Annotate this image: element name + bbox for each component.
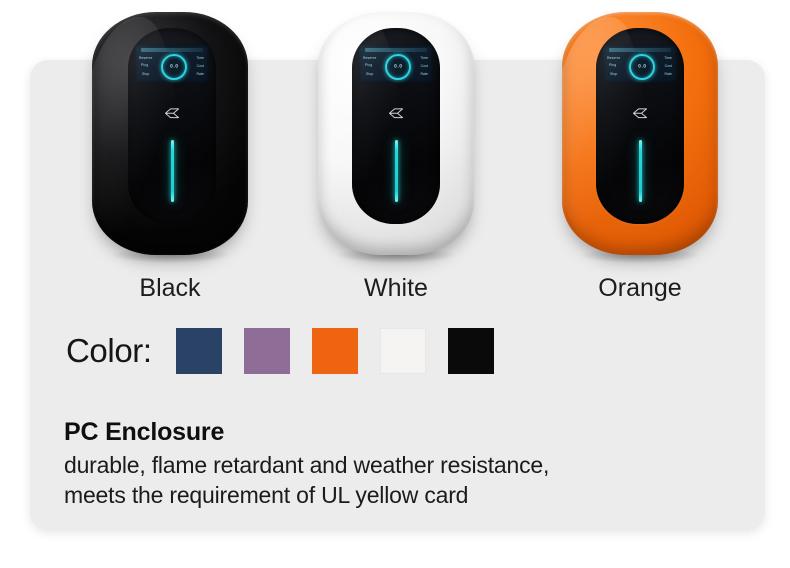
lcd-label-right-2: Cost bbox=[665, 64, 672, 68]
device-label-white: White bbox=[318, 274, 474, 303]
lcd-label-left-3: Stop bbox=[142, 72, 149, 76]
color-swatch-navy-blue[interactable] bbox=[176, 328, 222, 374]
lcd-label-right-1: Time bbox=[664, 56, 672, 60]
color-options-row: Color: bbox=[66, 328, 494, 374]
description-block: PC Enclosure durable, flame retardant an… bbox=[64, 418, 766, 511]
lcd-label-left-3: Stop bbox=[610, 72, 617, 76]
product-device-orange[interactable]: Reserve Plug Stop Time Cost Rate 0.0 Ora… bbox=[562, 12, 718, 255]
device-gallery: Reserve Plug Stop Time Cost Rate 0.0 Bla… bbox=[0, 0, 790, 300]
color-label: Color: bbox=[66, 332, 152, 370]
charging-gauge-ring: 0.0 bbox=[629, 54, 655, 80]
device-face-panel: Reserve Plug Stop Time Cost Rate 0.0 bbox=[128, 28, 216, 224]
lcd-label-right-1: Time bbox=[196, 56, 204, 60]
lcd-label-right-2: Cost bbox=[197, 64, 204, 68]
lcd-label-left-1: Reserve bbox=[607, 56, 620, 60]
lcd-label-left-2: Plug bbox=[365, 63, 372, 67]
device-label-black: Black bbox=[92, 274, 248, 303]
color-swatch-orange[interactable] bbox=[312, 328, 358, 374]
device-face-panel: Reserve Plug Stop Time Cost Rate 0.0 bbox=[596, 28, 684, 224]
lcd-status-bar bbox=[141, 48, 203, 52]
lcd-label-left-2: Plug bbox=[141, 63, 148, 67]
color-swatch-white[interactable] bbox=[380, 328, 426, 374]
rfid-card-icon bbox=[163, 106, 181, 122]
lcd-status-bar bbox=[609, 48, 671, 52]
color-swatch-black[interactable] bbox=[448, 328, 494, 374]
lcd-label-left-2: Plug bbox=[609, 63, 616, 67]
lcd-label-left-3: Stop bbox=[366, 72, 373, 76]
product-device-white[interactable]: Reserve Plug Stop Time Cost Rate 0.0 Whi… bbox=[318, 12, 474, 255]
lcd-label-right-3: Rate bbox=[420, 72, 428, 76]
description-title: PC Enclosure bbox=[64, 418, 766, 447]
lcd-label-right-1: Time bbox=[420, 56, 428, 60]
device-lcd-screen[interactable]: Reserve Plug Stop Time Cost Rate 0.0 bbox=[135, 45, 209, 83]
lcd-label-right-3: Rate bbox=[196, 72, 204, 76]
color-swatch-list bbox=[176, 328, 494, 374]
led-status-strip bbox=[395, 140, 398, 202]
gauge-value-text: 0.0 bbox=[170, 65, 178, 70]
lcd-label-left-1: Reserve bbox=[363, 56, 376, 60]
led-status-strip bbox=[171, 140, 174, 202]
device-lcd-screen[interactable]: Reserve Plug Stop Time Cost Rate 0.0 bbox=[359, 45, 433, 83]
device-face-panel: Reserve Plug Stop Time Cost Rate 0.0 bbox=[352, 28, 440, 224]
rfid-card-icon bbox=[631, 106, 649, 122]
gauge-value-text: 0.0 bbox=[394, 65, 402, 70]
lcd-status-bar bbox=[365, 48, 427, 52]
description-line-1: durable, flame retardant and weather res… bbox=[64, 451, 766, 481]
rfid-card-icon bbox=[387, 106, 405, 122]
charging-gauge-ring: 0.0 bbox=[161, 54, 187, 80]
lcd-label-right-2: Cost bbox=[421, 64, 428, 68]
product-device-black[interactable]: Reserve Plug Stop Time Cost Rate 0.0 Bla… bbox=[92, 12, 248, 255]
device-lcd-screen[interactable]: Reserve Plug Stop Time Cost Rate 0.0 bbox=[603, 45, 677, 83]
lcd-label-left-1: Reserve bbox=[139, 56, 152, 60]
description-line-2: meets the requirement of UL yellow card bbox=[64, 481, 766, 511]
gauge-value-text: 0.0 bbox=[638, 65, 646, 70]
color-swatch-purple[interactable] bbox=[244, 328, 290, 374]
led-status-strip bbox=[639, 140, 642, 202]
charging-gauge-ring: 0.0 bbox=[385, 54, 411, 80]
device-label-orange: Orange bbox=[562, 274, 718, 303]
lcd-label-right-3: Rate bbox=[664, 72, 672, 76]
